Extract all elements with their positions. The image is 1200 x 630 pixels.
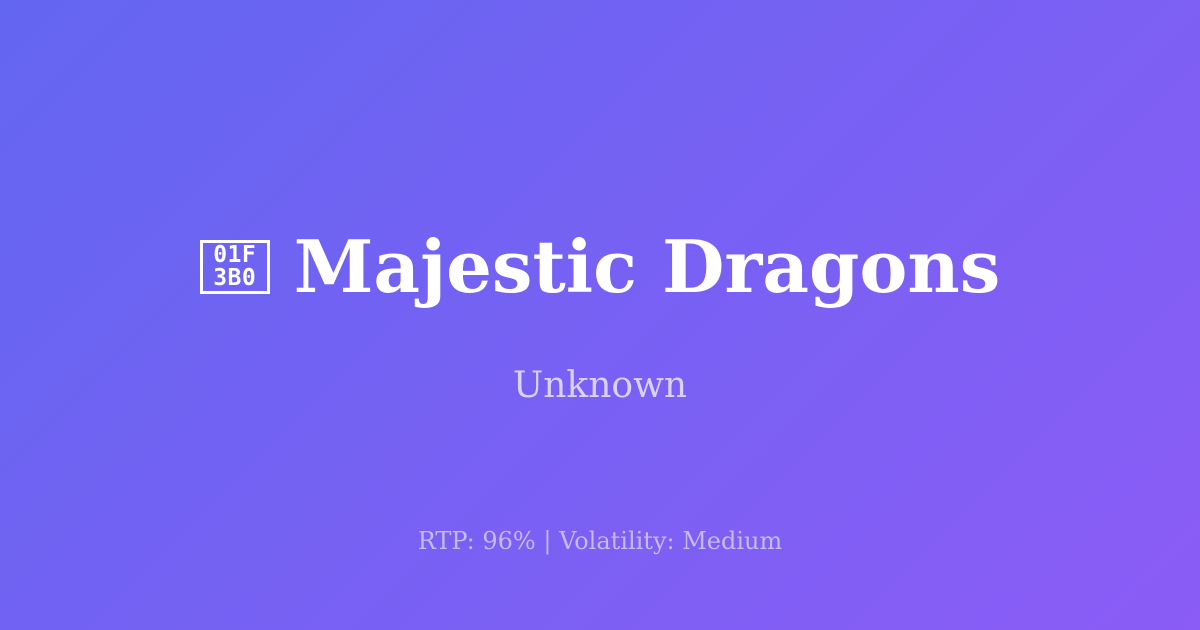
game-subtitle: Unknown — [0, 364, 1200, 407]
tofu-codepoint-top: 01F — [213, 244, 256, 267]
tofu-codepoint-bottom: 3B0 — [213, 267, 256, 290]
slot-machine-icon: 01F 3B0 — [200, 240, 270, 294]
game-preview-card: 01F 3B0 Majestic Dragons Unknown RTP: 96… — [0, 0, 1200, 630]
game-meta-line: RTP: 96% | Volatility: Medium — [0, 527, 1200, 556]
card-content: 01F 3B0 Majestic Dragons Unknown RTP: 96… — [0, 0, 1200, 630]
game-title-text: Majestic Dragons — [294, 231, 1001, 303]
page-title: 01F 3B0 Majestic Dragons — [0, 231, 1200, 303]
